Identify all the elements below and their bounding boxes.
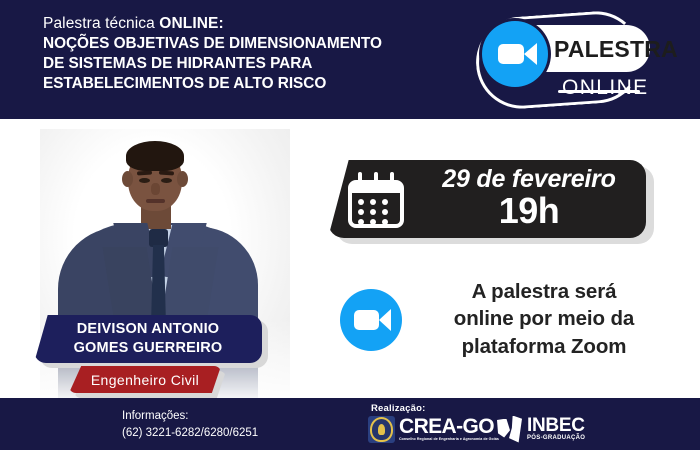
speaker-name-line-2: GOMES GUERREIRO bbox=[74, 339, 223, 358]
speaker-nameplate: DEIVISON ANTONIO GOMES GUERREIRO bbox=[34, 315, 262, 363]
speaker-name-line-1: DEIVISON ANTONIO bbox=[77, 320, 220, 339]
calendar-dot bbox=[370, 199, 376, 205]
calendar-header-bar bbox=[352, 184, 400, 193]
crea-seal-inner-shape bbox=[370, 417, 393, 442]
crea-seal-figure bbox=[378, 424, 385, 435]
inbec-mark-shape-1 bbox=[497, 419, 510, 438]
photo-eye-left bbox=[139, 178, 150, 183]
calendar-dot bbox=[382, 199, 388, 205]
inbec-text-block: INBEC PÓS-GRADUAÇÃO bbox=[527, 416, 585, 443]
inbec-mark-shape-2 bbox=[509, 416, 522, 443]
calendar-icon bbox=[348, 172, 404, 228]
zoom-info-line-3: plataforma Zoom bbox=[416, 333, 672, 360]
camera-body-shape bbox=[498, 44, 524, 64]
header-band: Palestra técnica ONLINE: NOÇÕES OBJETIVA… bbox=[0, 0, 700, 119]
crea-seal-icon bbox=[368, 416, 395, 443]
camera-lens-shape bbox=[379, 309, 391, 331]
crea-go-logo: CREA-GO Conselho Regional de Engenharia … bbox=[368, 415, 499, 444]
calendar-dot bbox=[370, 209, 376, 215]
calendar-dot bbox=[358, 209, 364, 215]
event-poster: Palestra técnica ONLINE: NOÇÕES OBJETIVA… bbox=[0, 0, 700, 450]
photo-ear-right bbox=[177, 171, 188, 187]
inbec-logo-name: INBEC bbox=[527, 416, 585, 435]
photo-ear-left bbox=[122, 171, 133, 187]
header-title-line-2: DE SISTEMAS DE HIDRANTES PARA bbox=[43, 54, 473, 74]
header-title-line-1: NOÇÕES OBJETIVAS DE DIMENSIONAMENTO bbox=[43, 34, 473, 54]
zoom-info-line-1: A palestra será bbox=[416, 278, 672, 305]
contact-phone: (62) 3221-6282/6280/6251 bbox=[122, 425, 258, 442]
inbec-logo-subtitle: PÓS-GRADUAÇÃO bbox=[527, 435, 585, 443]
inbec-logo: INBEC PÓS-GRADUAÇÃO bbox=[497, 414, 585, 444]
camera-lens-shape bbox=[524, 43, 537, 65]
header-kicker-regular: Palestra técnica bbox=[43, 15, 159, 32]
calendar-dot bbox=[358, 219, 364, 225]
palestra-online-logo: PALESTRA ONLINE bbox=[470, 8, 685, 115]
calendar-dot bbox=[370, 219, 376, 225]
header-kicker-bold: ONLINE: bbox=[159, 15, 223, 32]
photo-mouth bbox=[146, 199, 165, 203]
photo-tie-knot bbox=[149, 229, 168, 247]
header-title-block: Palestra técnica ONLINE: NOÇÕES OBJETIVA… bbox=[43, 14, 473, 94]
inbec-brazil-map-icon bbox=[497, 416, 523, 443]
crea-logo-name: CREA-GO bbox=[399, 417, 499, 437]
date-text-block: 29 de fevereiro 19h bbox=[420, 165, 638, 230]
speaker-role-badge: Engenheiro Civil bbox=[69, 366, 221, 393]
contact-info: Informações: (62) 3221-6282/6280/6251 bbox=[122, 408, 258, 441]
header-kicker: Palestra técnica ONLINE: bbox=[43, 14, 473, 34]
speaker-role-label: Engenheiro Civil bbox=[91, 372, 199, 388]
date-banner: 29 de fevereiro 19h bbox=[328, 160, 646, 238]
logo-word-online: ONLINE bbox=[562, 76, 649, 100]
calendar-dot bbox=[382, 219, 388, 225]
zoom-info-line-2: online por meio da bbox=[416, 305, 672, 332]
event-time: 19h bbox=[420, 192, 638, 230]
camera-body-shape bbox=[354, 310, 379, 330]
photo-nose bbox=[151, 183, 160, 195]
video-camera-icon bbox=[340, 289, 402, 351]
video-camera-icon bbox=[482, 21, 548, 87]
calendar-dot bbox=[358, 199, 364, 205]
header-title-line-3: ESTABELECIMENTOS DE ALTO RISCO bbox=[43, 74, 473, 94]
photo-hair bbox=[126, 141, 184, 171]
crea-logo-subtitle: Conselho Regional de Engenharia e Agrono… bbox=[399, 437, 499, 441]
calendar-dot bbox=[382, 209, 388, 215]
photo-eye-right bbox=[161, 178, 172, 183]
contact-info-label: Informações: bbox=[122, 408, 258, 425]
crea-text-block: CREA-GO Conselho Regional de Engenharia … bbox=[399, 417, 499, 441]
zoom-info-text: A palestra será online por meio da plata… bbox=[416, 278, 672, 360]
logo-word-palestra: PALESTRA bbox=[554, 36, 678, 63]
footer-band: Informações: (62) 3221-6282/6280/6251 Re… bbox=[0, 398, 700, 450]
realization-label: Realização: bbox=[371, 403, 425, 414]
zoom-info-block: A palestra será online por meio da plata… bbox=[334, 278, 674, 368]
